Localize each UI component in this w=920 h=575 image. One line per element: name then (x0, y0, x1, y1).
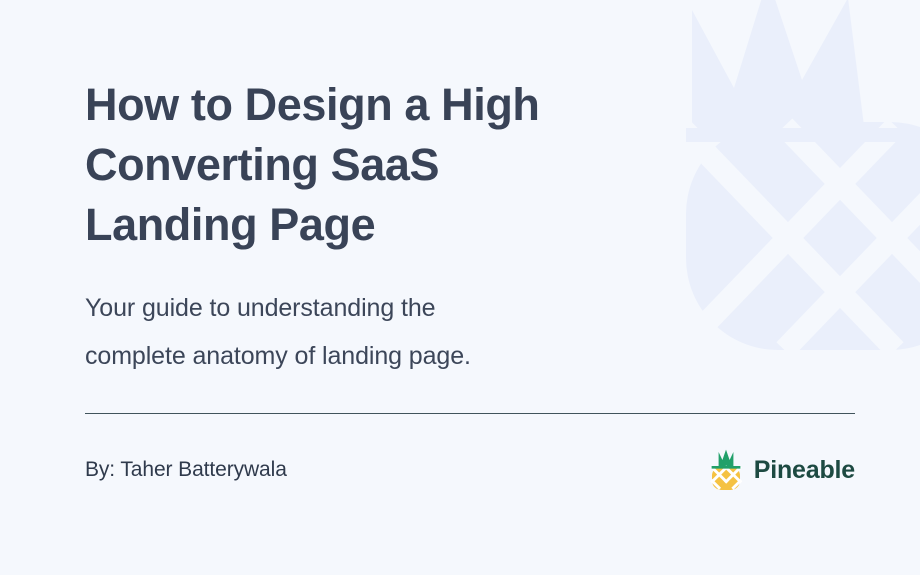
page-title-line: Converting SaaS (85, 135, 625, 195)
page-subtitle: Your guide to understanding the complete… (85, 284, 645, 380)
page-title-line: Landing Page (85, 195, 625, 255)
logo-body (711, 466, 740, 490)
cover-footer: By: Taher Batterywala (85, 446, 855, 494)
horizontal-divider (85, 413, 855, 414)
page-title-line: How to Design a High (85, 75, 625, 135)
page-subtitle-line: Your guide to understanding the (85, 284, 645, 332)
page-subtitle-line: complete anatomy of landing page. (85, 332, 645, 380)
brand-name: Pineable (754, 456, 855, 485)
pineapple-logo-icon (709, 449, 743, 491)
ebook-cover: How to Design a High Converting SaaS Lan… (0, 0, 920, 575)
author-byline: By: Taher Batterywala (85, 458, 287, 482)
cover-content: How to Design a High Converting SaaS Lan… (0, 0, 920, 575)
brand-logo: Pineable (709, 449, 855, 491)
logo-crown (718, 450, 733, 467)
page-title: How to Design a High Converting SaaS Lan… (85, 75, 625, 255)
